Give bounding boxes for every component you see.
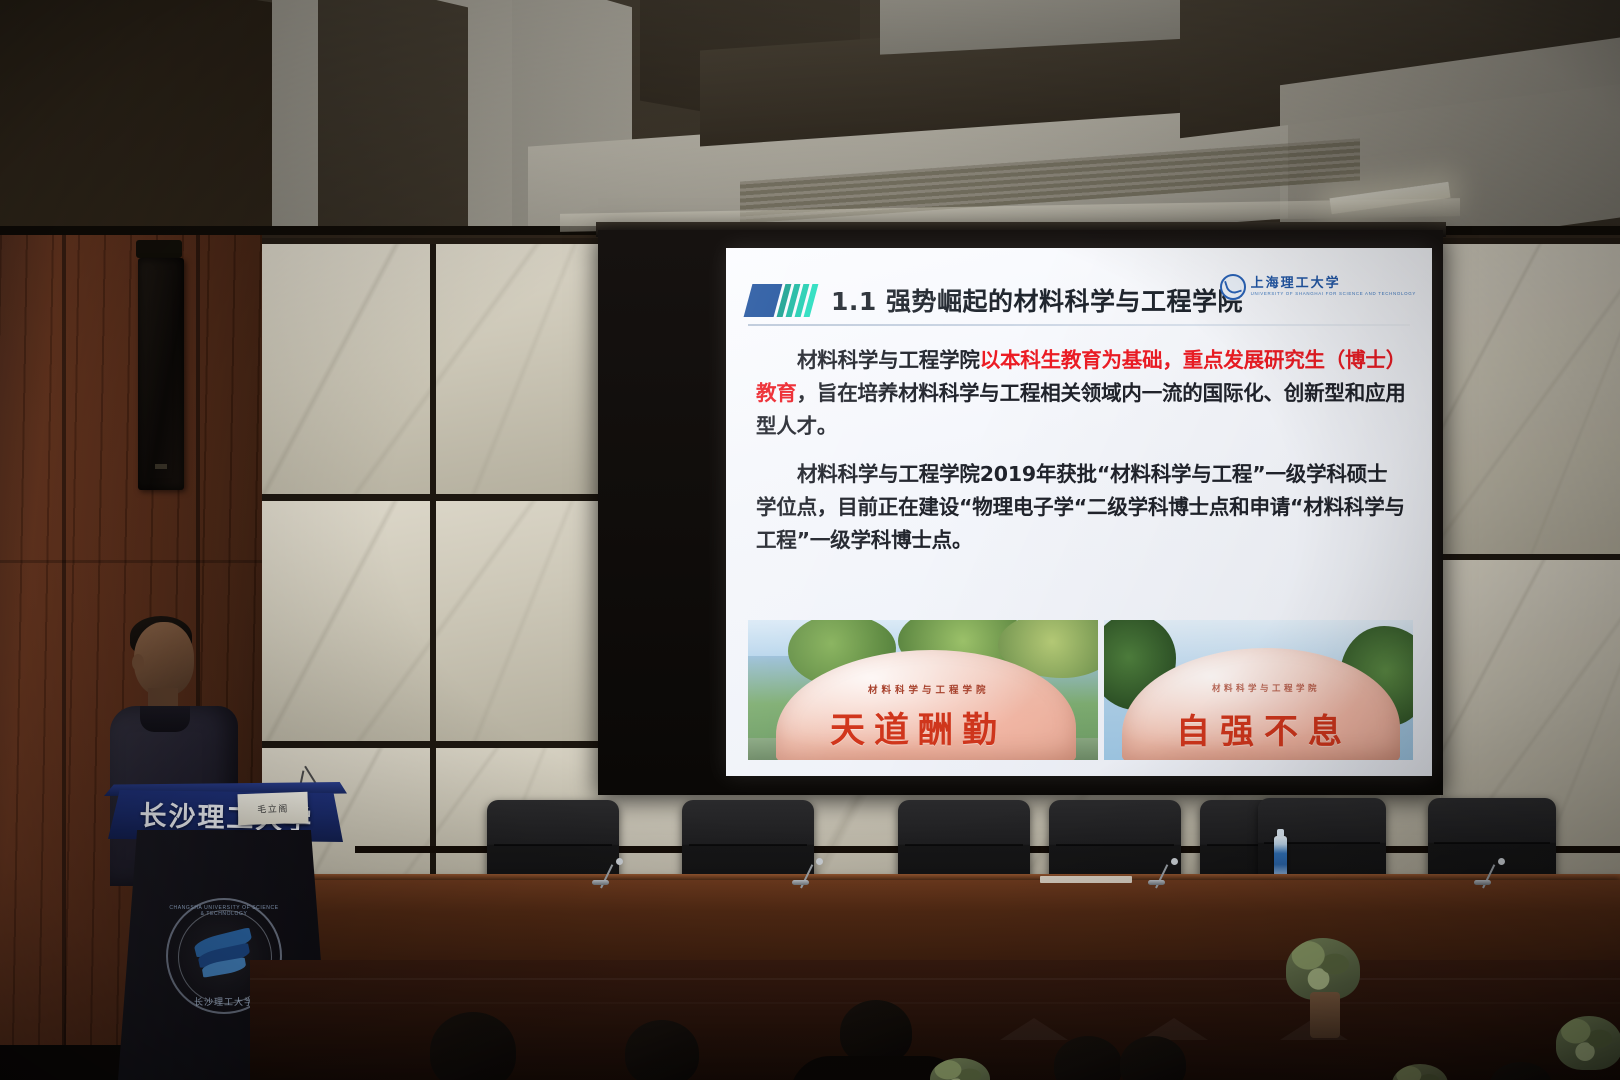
university-logo: 上海理工大学 UNIVERSITY OF SHANGHAI FOR SCIENC… (1220, 274, 1416, 300)
microphone-base (792, 880, 809, 885)
presentation-slide: 1.1 强势崛起的材料科学与工程学院 上海理工大学 UNIVERSITY OF … (726, 248, 1432, 776)
para1-run3: ，旨在培养材料科学与工程相关领域内一流的国际化、创新型和应用型人才。 (756, 381, 1406, 438)
microphone-base (1148, 880, 1165, 885)
speaker-collar (140, 706, 190, 732)
audience-camouflage-cap (1286, 938, 1360, 1000)
audience-head (430, 1012, 516, 1080)
audience-camouflage-cap (1556, 1016, 1620, 1070)
speaker-badge (155, 464, 167, 469)
wood-seam (62, 235, 66, 1045)
para1-run1: 材料科学与工程学院 (797, 348, 980, 372)
photo-monument-left: 材料科学与工程学院 天道酬勤 (748, 620, 1098, 760)
monument-inscription: 自强不息 (1176, 704, 1352, 753)
marble-panel (1440, 244, 1620, 554)
monument-inscription: 天道酬勤 (830, 702, 1006, 753)
wall-speaker (138, 258, 184, 490)
paper-sheet (1040, 876, 1132, 883)
emblem-name-en: CHANGSHA UNIVERSITY OF SCIENCE & TECHNOL… (168, 905, 280, 917)
wainscot-line (250, 978, 1620, 980)
lecture-hall-photo: 1.1 强势崛起的材料科学与工程学院 上海理工大学 UNIVERSITY OF … (0, 0, 1620, 1080)
nameplate-text: 毛立阁 (257, 801, 289, 815)
panel-gap (430, 244, 436, 894)
slide-paragraph-2: 材料科学与工程学院2019年获批“材料科学与工程”一级学科硕士学位点，目前正在建… (756, 458, 1406, 558)
monument-subtitle: 材料科学与工程学院 (868, 682, 990, 696)
speaker-mount (136, 240, 182, 258)
logo-name-cn: 上海理工大学 (1251, 277, 1416, 290)
microphone-base (592, 880, 609, 885)
title-decoration-icon (748, 284, 820, 317)
logo-name-en: UNIVERSITY OF SHANGHAI FOR SCIENCE AND T… (1251, 292, 1416, 296)
wood-seam (0, 560, 262, 563)
slide-title: 1.1 强势崛起的材料科学与工程学院 (831, 282, 1243, 318)
photo-monument-right: 材料科学与工程学院 自强不息 (1104, 620, 1413, 760)
logo-text: 上海理工大学 UNIVERSITY OF SHANGHAI FOR SCIENC… (1251, 277, 1416, 296)
logo-emblem-icon (1220, 274, 1246, 300)
para2-run1: 材料科学与工程学院2019年获批“材料科学与工程”一级学科硕士学位点，目前正在建… (756, 462, 1405, 552)
microphone-base (1474, 880, 1491, 885)
microphone-head (616, 858, 623, 865)
monument-subtitle: 材料科学与工程学院 (1212, 682, 1320, 694)
slide-photo-row: 材料科学与工程学院 天道酬勤 材料科学与工程学院 自强不息 (748, 620, 1413, 760)
microphone-head (1498, 858, 1505, 865)
speaker-nameplate: 毛立阁 (237, 792, 308, 825)
deco-block (744, 284, 783, 317)
microphone-head (816, 858, 823, 865)
ceiling-beam (0, 0, 300, 240)
ceiling-beam (318, 0, 468, 240)
wainscot-chevron (1000, 1018, 1068, 1040)
audience-head (840, 1000, 912, 1064)
audience-head (625, 1020, 699, 1080)
slide-body: 材料科学与工程学院以本科生教育为基础，重点发展研究生（博士）教育，旨在培养材料科… (756, 344, 1406, 571)
microphone-head (1171, 858, 1178, 865)
wainscot-line (250, 1002, 1620, 1004)
speaker-ear (132, 654, 144, 671)
title-underline (748, 324, 1410, 326)
ceiling (0, 0, 1620, 240)
audience-neck (1310, 992, 1340, 1038)
slide-paragraph-1: 材料科学与工程学院以本科生教育为基础，重点发展研究生（博士）教育，旨在培养材料科… (756, 344, 1406, 444)
